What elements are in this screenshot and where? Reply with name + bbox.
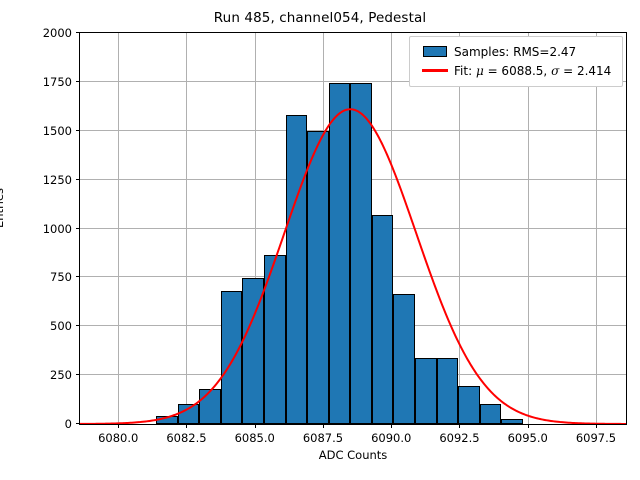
figure: Run 485, channel054, Pedestal 0250500750…	[0, 0, 640, 480]
y-axis-label: Entries	[0, 188, 6, 228]
gaussian-fit-curve	[80, 33, 626, 424]
y-axis-tick	[76, 130, 80, 131]
y-axis-tick-label: 1250	[43, 173, 72, 187]
plot-area: 0250500750100012501500175020006080.06082…	[79, 32, 627, 425]
x-axis-tick	[186, 424, 187, 428]
legend-swatch-samples	[418, 46, 451, 57]
x-axis-tick-label: 6092.5	[439, 431, 479, 445]
legend: Samples: RMS=2.47 Fit: μ = 6088.5, σ = 2…	[409, 36, 623, 87]
x-axis-tick	[118, 424, 119, 428]
y-axis-tick	[76, 228, 80, 229]
x-axis-tick-label: 6085.0	[235, 431, 275, 445]
y-axis-tick-label: 2000	[43, 26, 72, 40]
y-axis-tick	[76, 81, 80, 82]
y-axis-tick-label: 500	[50, 319, 72, 333]
legend-item-samples: Samples: RMS=2.47	[418, 42, 614, 61]
y-axis-tick-label: 1750	[43, 75, 72, 89]
x-axis-tick-label: 6082.5	[166, 431, 206, 445]
y-axis-tick	[76, 179, 80, 180]
x-axis-tick-label: 6080.0	[98, 431, 138, 445]
y-axis-tick-label: 0	[65, 417, 72, 431]
y-axis-tick	[76, 32, 80, 33]
x-axis-tick	[323, 424, 324, 428]
y-axis-tick	[76, 325, 80, 326]
y-axis-tick	[76, 374, 80, 375]
legend-label-fit: Fit: μ = 6088.5, σ = 2.414	[451, 64, 611, 78]
x-axis-tick-label: 6087.5	[303, 431, 343, 445]
x-axis-tick	[596, 424, 597, 428]
x-axis-tick-label: 6090.0	[371, 431, 411, 445]
legend-line-fit	[418, 69, 451, 71]
y-axis-tick	[76, 423, 80, 424]
chart-title: Run 485, channel054, Pedestal	[0, 10, 640, 26]
legend-item-fit: Fit: μ = 6088.5, σ = 2.414	[418, 61, 614, 80]
x-axis-label: ADC Counts	[79, 448, 627, 462]
y-axis-tick	[76, 276, 80, 277]
y-axis-tick-label: 750	[50, 270, 72, 284]
x-axis-tick	[391, 424, 392, 428]
x-axis-tick-label: 6095.0	[508, 431, 548, 445]
legend-label-samples: Samples: RMS=2.47	[451, 45, 576, 59]
x-axis-tick	[528, 424, 529, 428]
x-axis-tick	[459, 424, 460, 428]
plot-inner	[80, 33, 626, 424]
y-axis-tick-label: 1000	[43, 222, 72, 236]
x-axis-tick-label: 6097.5	[576, 431, 616, 445]
y-axis-tick-label: 250	[50, 368, 72, 382]
y-axis-tick-label: 1500	[43, 124, 72, 138]
x-axis-tick	[255, 424, 256, 428]
